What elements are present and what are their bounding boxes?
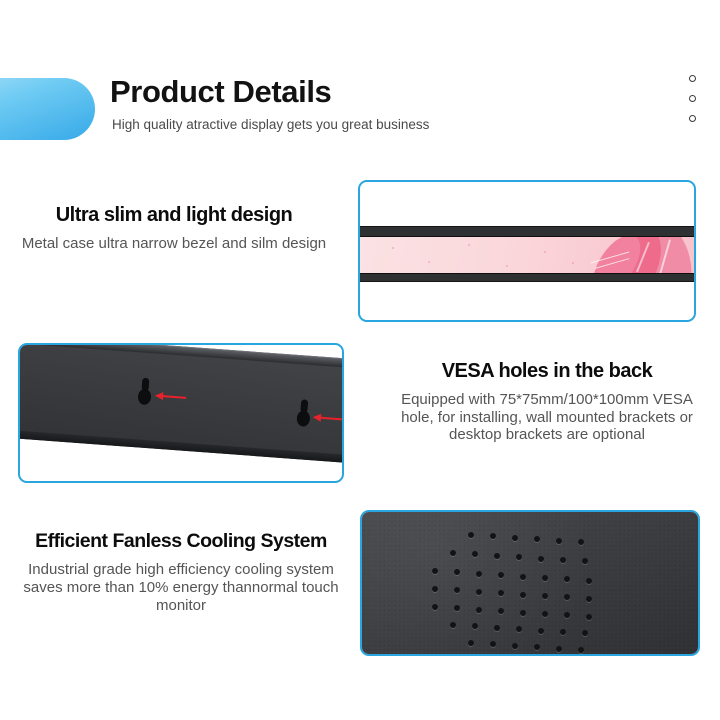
vent-hole xyxy=(468,640,474,646)
vent-hole xyxy=(476,607,482,613)
vent-hole xyxy=(542,575,548,581)
vent-hole xyxy=(538,628,544,634)
bar-monitor-screen xyxy=(358,236,696,274)
vent-hole xyxy=(512,643,518,649)
vent-hole xyxy=(542,593,548,599)
feature-row-vesa: VESA holes in the back Equipped with 75*… xyxy=(0,340,720,492)
perforated-vent-panel xyxy=(360,510,700,656)
bar-monitor-bezel xyxy=(358,226,696,282)
decorative-speck xyxy=(468,244,470,246)
monitor-rear-panel xyxy=(18,343,344,466)
vent-hole xyxy=(450,622,456,628)
vent-hole xyxy=(450,550,456,556)
vent-hole xyxy=(542,611,548,617)
vent-hole xyxy=(586,596,592,602)
page-header: Product Details High quality atractive d… xyxy=(0,62,720,154)
decorative-speck xyxy=(506,265,508,267)
vent-hole xyxy=(520,610,526,616)
vent-hole xyxy=(494,625,500,631)
page-subtitle: High quality atractive display gets you … xyxy=(112,117,429,132)
vent-hole xyxy=(476,589,482,595)
vesa-keyhole-icon xyxy=(296,399,311,428)
circle-outline-icon xyxy=(689,115,696,122)
vent-hole xyxy=(578,647,584,653)
feature-body: Metal case ultra narrow bezel and silm d… xyxy=(14,235,334,253)
vent-hole xyxy=(432,568,438,574)
vent-hole xyxy=(538,556,544,562)
decorative-speck xyxy=(428,261,430,263)
feature-text-cooling: Efficient Fanless Cooling System Industr… xyxy=(14,530,348,615)
feature-text-ultra-slim: Ultra slim and light design Metal case u… xyxy=(14,204,334,253)
stretched-bar-display-photo xyxy=(358,180,696,322)
red-arrow-icon xyxy=(314,416,344,420)
feature-heading: Ultra slim and light design xyxy=(53,204,296,228)
red-arrow-icon xyxy=(156,395,186,399)
vent-hole xyxy=(476,571,482,577)
vent-hole xyxy=(520,592,526,598)
feature-row-cooling: Efficient Fanless Cooling System Industr… xyxy=(0,506,720,658)
feature-row-ultra-slim: Ultra slim and light design Metal case u… xyxy=(0,176,720,328)
circle-outline-icon xyxy=(689,95,696,102)
vent-hole xyxy=(512,535,518,541)
vent-hole xyxy=(586,614,592,620)
vent-hole xyxy=(586,578,592,584)
feature-text-vesa: VESA holes in the back Equipped with 75*… xyxy=(392,360,702,444)
vesa-mounting-holes-photo xyxy=(18,343,344,483)
circle-outline-icon xyxy=(689,75,696,82)
panel-bottom-edge xyxy=(18,428,344,465)
cooling-vent-holes-photo xyxy=(360,510,700,656)
vent-hole xyxy=(494,553,500,559)
header-accent-pill xyxy=(0,78,95,140)
panel-top-edge xyxy=(18,343,344,371)
feature-body: Industrial grade high efficiency cooling… xyxy=(14,561,348,615)
vesa-photo-frame xyxy=(18,343,344,483)
product-details-page: Product Details High quality atractive d… xyxy=(0,0,720,720)
vent-hole xyxy=(556,538,562,544)
vent-hole xyxy=(560,629,566,635)
vent-hole xyxy=(432,586,438,592)
feature-heading: VESA holes in the back xyxy=(439,360,656,384)
vent-hole xyxy=(560,557,566,563)
panel-texture xyxy=(360,510,700,656)
vent-hole xyxy=(520,574,526,580)
vent-hole xyxy=(468,532,474,538)
header-dot-group xyxy=(689,75,696,122)
feature-heading: Efficient Fanless Cooling System xyxy=(32,530,330,554)
decorative-speck xyxy=(544,251,546,253)
decorative-speck xyxy=(392,247,394,249)
vent-hole xyxy=(578,539,584,545)
page-title: Product Details xyxy=(110,74,331,110)
feature-body: Equipped with 75*75mm/100*100mm VESA hol… xyxy=(392,391,702,444)
decorative-speck xyxy=(572,262,574,264)
vent-hole xyxy=(432,604,438,610)
vent-hole xyxy=(556,646,562,652)
vesa-keyhole-icon xyxy=(137,377,152,406)
